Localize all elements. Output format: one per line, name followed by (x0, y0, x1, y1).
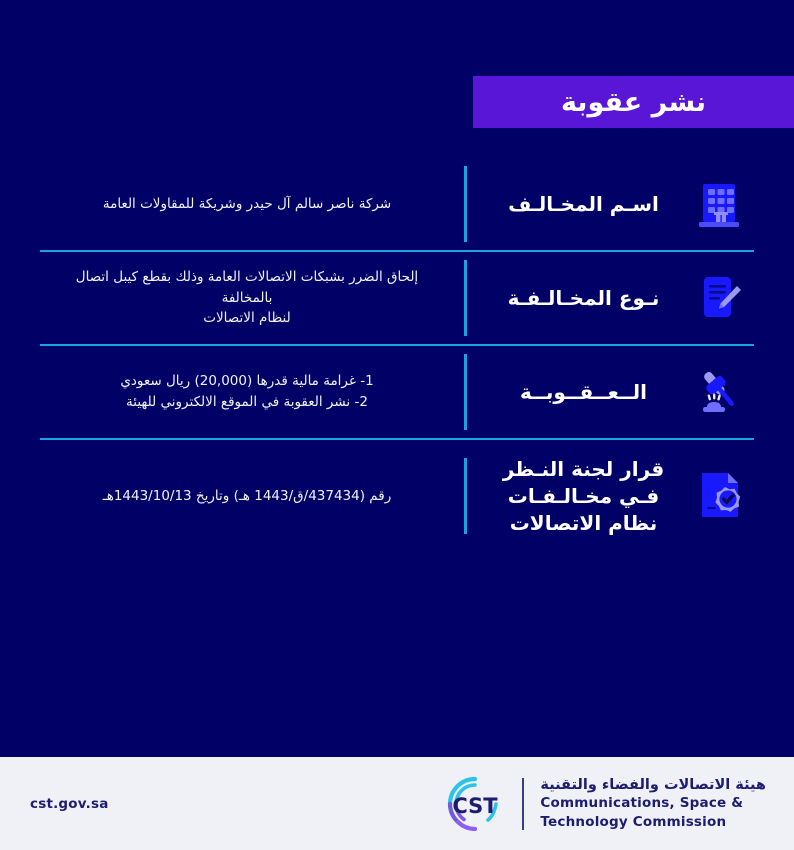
table-row-committee-decision: قرار لجنة النـظر فـي مخـالـفـات نظام الا… (30, 440, 764, 552)
row-value-committee-decision: رقم (437434/ق/1443 هـ) وتاريخ 1443/10/13… (30, 486, 464, 507)
accent-bar (464, 166, 467, 242)
penalty-publication-poster: نشر عقوبة (0, 0, 794, 850)
header-zone: نشر عقوبة (0, 0, 794, 158)
page-title: نشر عقوبة (561, 89, 706, 116)
gavel-icon (692, 363, 750, 421)
brand-separator (522, 778, 524, 830)
row-value-violation-type: إلحاق الضرر بشبكات الاتصالات العامة وذلك… (30, 267, 464, 330)
cst-logo: CST (444, 773, 506, 835)
bottom-spacer (30, 552, 764, 612)
accent-bar (464, 260, 467, 336)
accent-bar-wrap (464, 458, 467, 534)
footer: cst.gov.sa CST (0, 757, 794, 850)
row-head: قرار لجنة النـظر فـي مخـالـفـات نظام الا… (464, 456, 764, 537)
value-line: شركة ناصر سالم آل حيدر وشريكة للمقاولات … (52, 194, 442, 215)
value-line: 1- غرامة مالية قدرها (20,000) ريال سعودي (52, 371, 442, 392)
row-value-penalty: 1- غرامة مالية قدرها (20,000) ريال سعودي… (30, 371, 464, 413)
brand-name-english-line2: Technology Commission (540, 814, 766, 832)
table-row-violation-type: نـوع المخـالـفـة إلحاق الضرر بشبكات الات… (30, 252, 764, 344)
row-value-violator-name: شركة ناصر سالم آل حيدر وشريكة للمقاولات … (30, 194, 464, 215)
building-icon (692, 175, 750, 233)
title-banner: نشر عقوبة (473, 76, 794, 128)
brand-text: هيئة الاتصالات والفضاء والتقنية Communic… (540, 776, 766, 831)
row-label-penalty: الــعــقــوبــة (481, 379, 678, 406)
svg-text:CST: CST (453, 794, 499, 818)
table-row-violator-name: اسـم المخـالـف شركة ناصر سالم آل حيدر وش… (30, 158, 764, 250)
row-label-violator-name: اسـم المخـالـف (481, 191, 678, 218)
value-line: لنظام الاتصالات (52, 308, 442, 329)
accent-bar-wrap (464, 354, 467, 430)
row-label-violation-type: نـوع المخـالـفـة (481, 285, 678, 312)
accent-bar-wrap (464, 166, 467, 242)
footer-website-url[interactable]: cst.gov.sa (30, 796, 109, 812)
value-line: رقم (437434/ق/1443 هـ) وتاريخ 1443/10/13… (52, 486, 442, 507)
accent-bar (464, 354, 467, 430)
footer-brand: CST هيئة الاتصالات والفضاء والتقنية Comm… (444, 773, 766, 835)
row-head: الــعــقــوبــة (464, 354, 764, 430)
row-head: اسـم المخـالـف (464, 166, 764, 242)
value-line: إلحاق الضرر بشبكات الاتصالات العامة وذلك… (52, 267, 442, 309)
brand-name-arabic: هيئة الاتصالات والفضاء والتقنية (540, 776, 766, 794)
brand-name-english-line1: Communications, Space & (540, 795, 766, 813)
accent-bar-wrap (464, 260, 467, 336)
document-check-badge-icon (692, 467, 750, 525)
table-row-penalty: الــعــقــوبــة 1- غرامة مالية قدرها (20… (30, 346, 764, 438)
accent-bar (464, 458, 467, 534)
document-pencil-icon (692, 269, 750, 327)
value-line: 2- نشر العقوبة في الموقع الالكتروني للهي… (52, 392, 442, 413)
details-list: اسـم المخـالـف شركة ناصر سالم آل حيدر وش… (0, 158, 794, 757)
row-head: نـوع المخـالـفـة (464, 260, 764, 336)
row-label-committee-decision: قرار لجنة النـظر فـي مخـالـفـات نظام الا… (481, 456, 678, 537)
